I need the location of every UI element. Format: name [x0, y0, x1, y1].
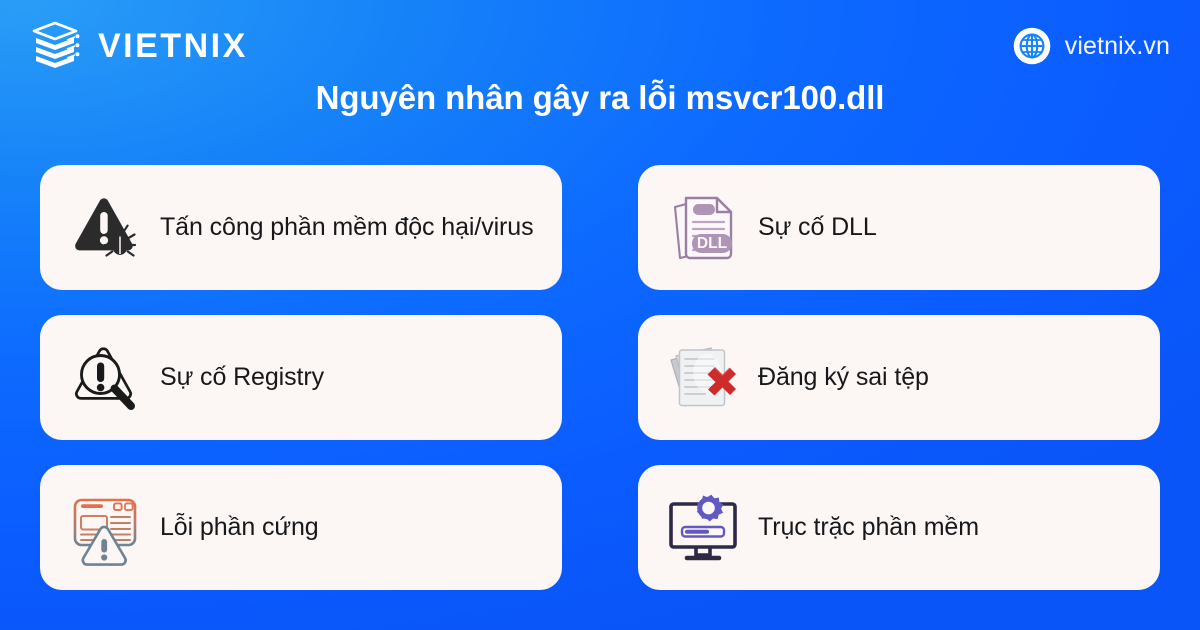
- card-malware-attack[interactable]: Tấn công phần mềm độc hại/virus: [40, 165, 562, 290]
- warning-triangle-bug-icon: [64, 187, 146, 269]
- card-label: Sự cố Registry: [160, 363, 324, 392]
- card-software-malfunction[interactable]: Trục trặc phần mềm: [638, 465, 1160, 590]
- card-label: Tấn công phần mềm độc hại/virus: [160, 213, 534, 242]
- warning-magnifier-icon: [64, 337, 146, 419]
- dll-file-icon: DLL: [662, 187, 744, 269]
- card-label: Đăng ký sai tệp: [758, 363, 929, 392]
- card-wrong-file-registration[interactable]: Đăng ký sai tệp: [638, 315, 1160, 440]
- site-url-group[interactable]: vietnix.vn: [1012, 26, 1170, 66]
- card-hardware-error[interactable]: Lỗi phần cứng: [40, 465, 562, 590]
- svg-text:DLL: DLL: [697, 235, 727, 252]
- card-label: Trục trặc phần mềm: [758, 513, 979, 542]
- card-dll-issue[interactable]: DLL Sự cố DLL: [638, 165, 1160, 290]
- documents-red-x-icon: [662, 337, 744, 419]
- causes-grid: Tấn công phần mềm độc hại/virus: [40, 165, 1160, 590]
- infographic-canvas: VIETNIX vietnix.vn Nguyên nhân gây ra lỗ…: [0, 0, 1200, 630]
- card-label: Sự cố DLL: [758, 213, 877, 242]
- stacked-layers-icon: [28, 18, 84, 74]
- monitor-gear-icon: [662, 487, 744, 569]
- site-url-text: vietnix.vn: [1065, 34, 1170, 59]
- card-registry-issue[interactable]: Sự cố Registry: [40, 315, 562, 440]
- globe-icon: [1012, 26, 1052, 66]
- card-label: Lỗi phần cứng: [160, 513, 319, 542]
- brand-name: VIETNIX: [98, 29, 248, 63]
- brand-logo: VIETNIX: [28, 18, 248, 74]
- page-title: Nguyên nhân gây ra lỗi msvcr100.dll: [0, 79, 1200, 117]
- browser-window-warning-icon: [64, 487, 146, 569]
